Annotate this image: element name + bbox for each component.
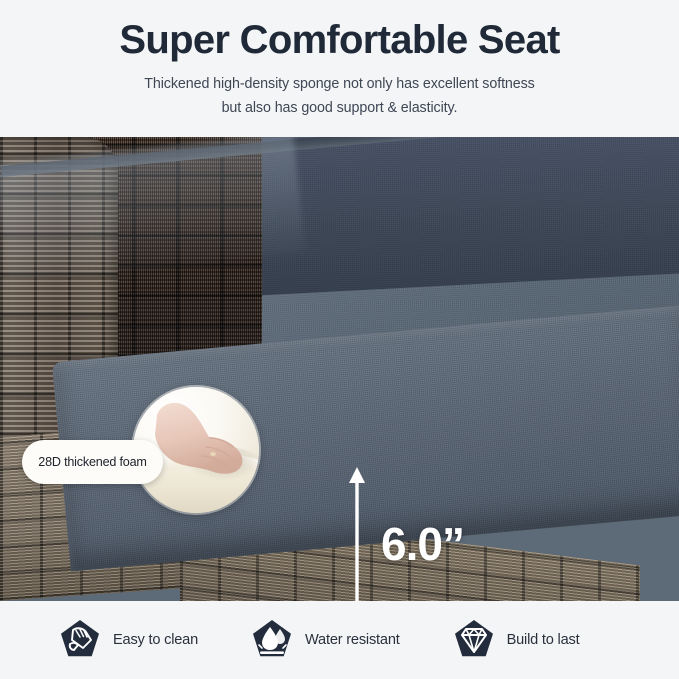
page-title: Super Comfortable Seat	[0, 0, 679, 64]
product-infographic: Super Comfortable Seat Thickened high-de…	[0, 0, 679, 679]
callout-pill-foam: 28D thickened foam	[22, 440, 163, 484]
feature-label-water-resistant: Water resistant	[305, 632, 400, 648]
dimension-value-label: 6.0”	[381, 521, 464, 567]
wiping-hand-icon	[58, 618, 102, 662]
header-section: Super Comfortable Seat Thickened high-de…	[0, 0, 679, 137]
double-headed-vertical-arrow-icon	[345, 467, 369, 601]
hand-pressing-foam-icon	[147, 397, 251, 485]
subtitle-line-1: Thickened high-density sponge not only h…	[0, 64, 679, 95]
water-drop-icon	[250, 618, 294, 662]
feature-label-easy-to-clean: Easy to clean	[113, 632, 198, 648]
feature-build-to-last: Build to last	[452, 618, 580, 662]
feature-label-build-to-last: Build to last	[507, 632, 580, 648]
product-photo: 28D thickened foam 6.0”	[0, 137, 679, 601]
feature-water-resistant: Water resistant	[250, 618, 400, 662]
feature-easy-to-clean: Easy to clean	[58, 618, 198, 662]
feature-bar: Easy to clean Water resistant Build to l…	[0, 601, 679, 679]
diamond-icon	[452, 618, 496, 662]
subtitle-line-2: but also has good support & elasticity.	[0, 95, 679, 119]
callout-pill-label: 28D thickened foam	[30, 454, 154, 470]
